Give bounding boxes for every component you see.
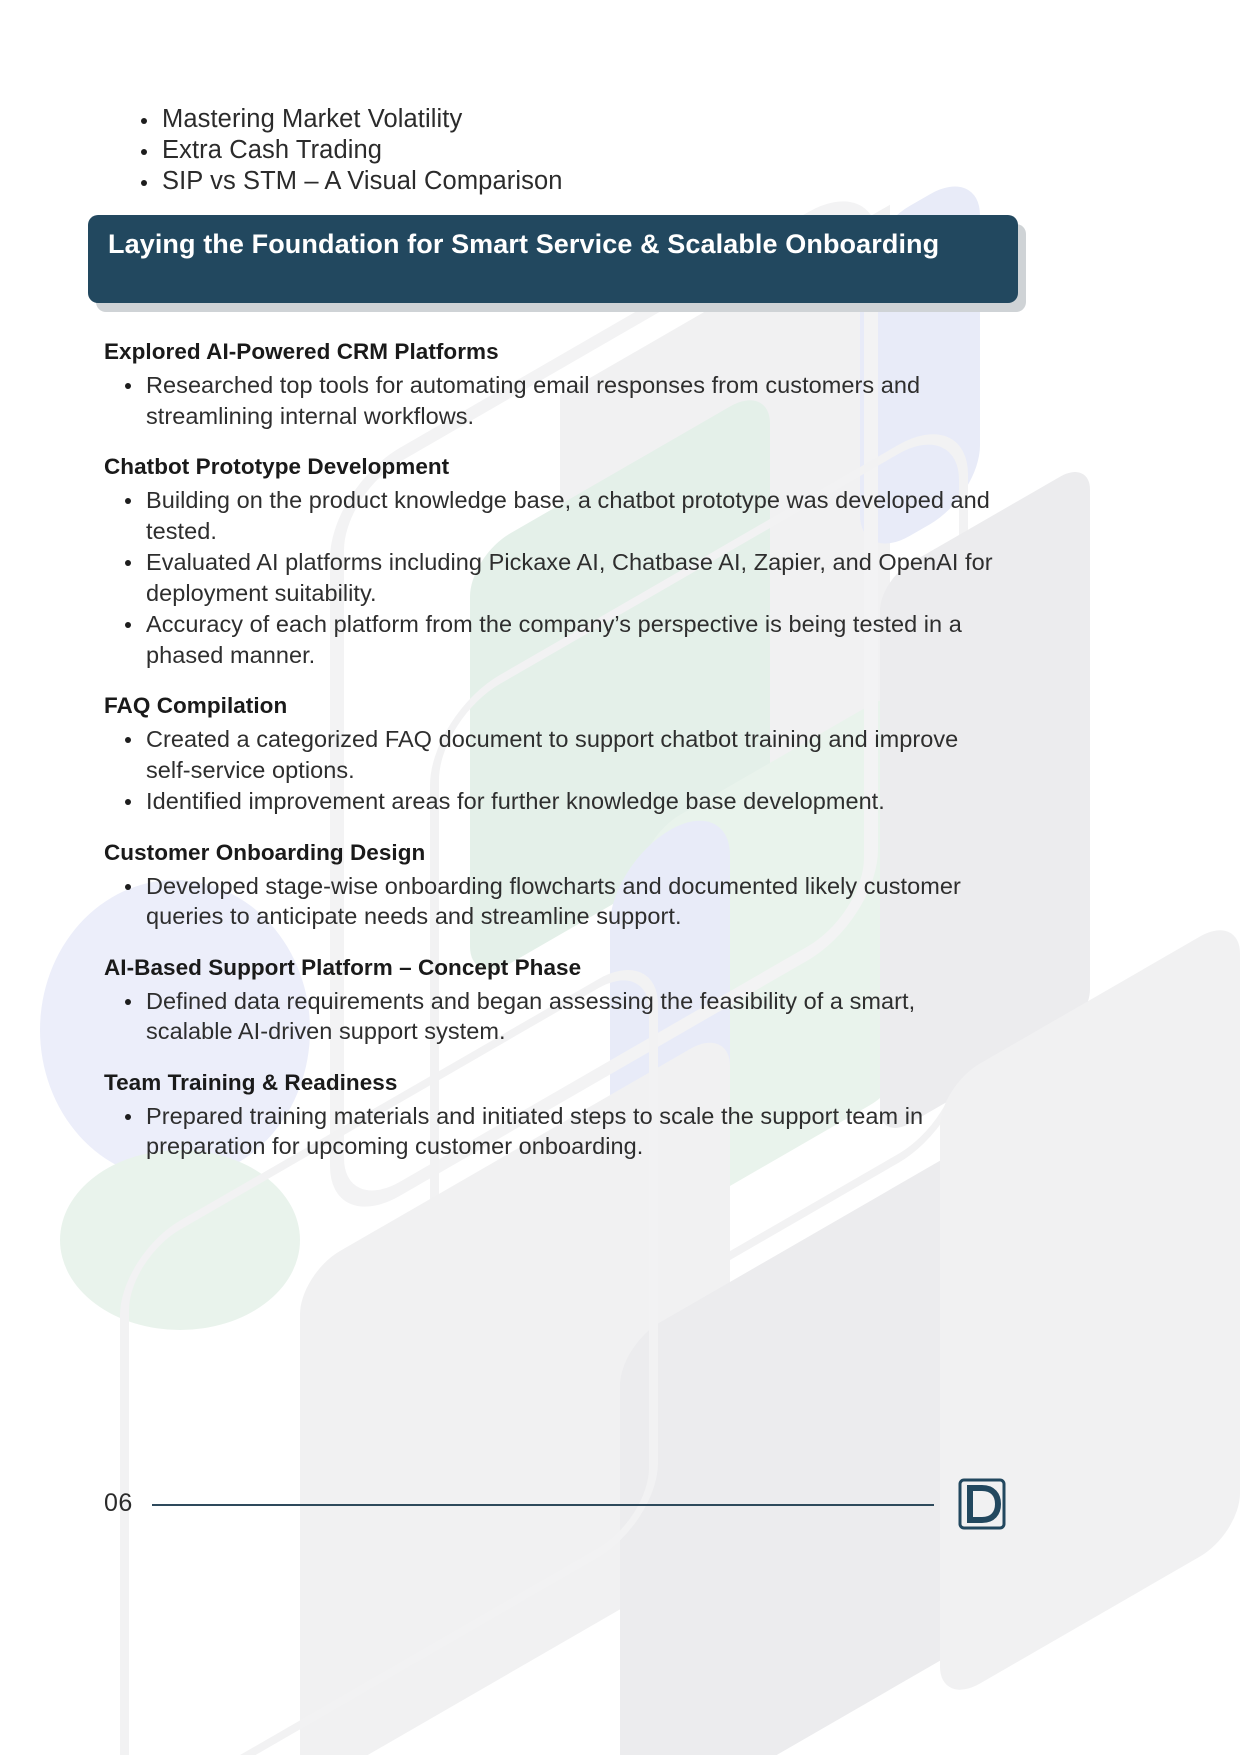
list-item: Identified improvement areas for further…	[104, 786, 1004, 817]
section-bullet-list: Prepared training materials and initiate…	[104, 1101, 1004, 1162]
section-faq-compilation: FAQ Compilation Created a categorized FA…	[104, 692, 1004, 817]
section-heading: Chatbot Prototype Development	[104, 453, 1004, 481]
list-item: Defined data requirements and began asse…	[104, 986, 1004, 1047]
list-item: Extra Cash Trading	[104, 135, 984, 166]
section-team-training-readiness: Team Training & Readiness Prepared train…	[104, 1069, 1004, 1162]
footer-divider	[152, 1504, 934, 1506]
section-ai-based-support-platform: AI-Based Support Platform – Concept Phas…	[104, 954, 1004, 1047]
document-page: Mastering Market Volatility Extra Cash T…	[0, 0, 1241, 1755]
section-bullet-list: Created a categorized FAQ document to su…	[104, 724, 1004, 817]
page-number: 06	[104, 1488, 133, 1518]
watermark-shape	[620, 1115, 1020, 1755]
section-banner: Laying the Foundation for Smart Service …	[88, 215, 1018, 303]
section-customer-onboarding-design: Customer Onboarding Design Developed sta…	[104, 839, 1004, 932]
section-bullet-list: Developed stage-wise onboarding flowchar…	[104, 871, 1004, 932]
section-bullet-list: Building on the product knowledge base, …	[104, 485, 1004, 670]
list-item: Developed stage-wise onboarding flowchar…	[104, 871, 1004, 932]
list-item: Created a categorized FAQ document to su…	[104, 724, 1004, 785]
section-heading: Customer Onboarding Design	[104, 839, 1004, 867]
banner-body: Laying the Foundation for Smart Service …	[88, 215, 1018, 303]
section-heading: AI-Based Support Platform – Concept Phas…	[104, 954, 1004, 982]
top-bullet-list: Mastering Market Volatility Extra Cash T…	[104, 104, 984, 197]
list-item: SIP vs STM – A Visual Comparison	[104, 166, 984, 197]
list-item: Building on the product knowledge base, …	[104, 485, 1004, 546]
list-item: Researched top tools for automating emai…	[104, 370, 1004, 431]
list-item: Mastering Market Volatility	[104, 104, 984, 135]
section-heading: Team Training & Readiness	[104, 1069, 1004, 1097]
banner-title: Laying the Foundation for Smart Service …	[108, 229, 992, 260]
letter-d-logo-icon	[952, 1476, 1012, 1532]
section-chatbot-prototype-development: Chatbot Prototype Development Building o…	[104, 453, 1004, 670]
list-item: Evaluated AI platforms including Pickaxe…	[104, 547, 1004, 608]
section-explored-ai-powered-crm-platforms: Explored AI-Powered CRM Platforms Resear…	[104, 338, 1004, 431]
section-bullet-list: Defined data requirements and began asse…	[104, 986, 1004, 1047]
sections-container: Explored AI-Powered CRM Platforms Resear…	[104, 338, 1004, 1163]
section-heading: FAQ Compilation	[104, 692, 1004, 720]
page-footer: 06	[0, 1488, 1241, 1548]
list-item: Accuracy of each platform from the compa…	[104, 609, 1004, 670]
list-item: Prepared training materials and initiate…	[104, 1101, 1004, 1162]
section-heading: Explored AI-Powered CRM Platforms	[104, 338, 1004, 366]
section-bullet-list: Researched top tools for automating emai…	[104, 370, 1004, 431]
watermark-shape	[60, 1150, 300, 1330]
